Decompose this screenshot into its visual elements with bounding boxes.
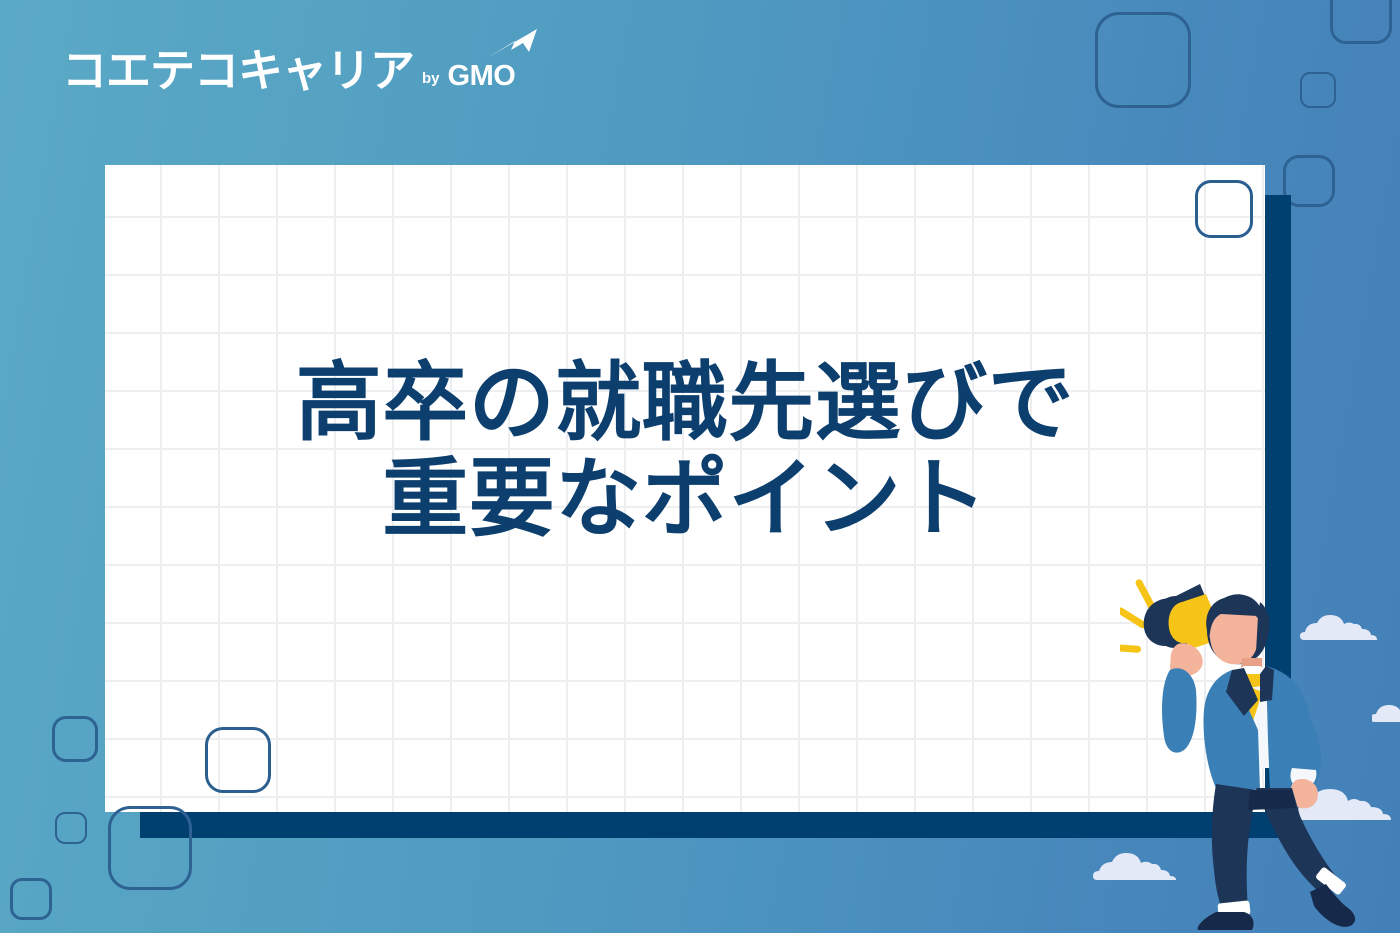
deco-square-left-lower: [10, 878, 52, 920]
deco-square-top-right-large: [1095, 12, 1191, 108]
cloud-bottom-left: [1093, 850, 1187, 884]
arrow-swoosh-icon: [485, 28, 541, 62]
brand-logo[interactable]: コエテコキャリア by GMO: [62, 48, 515, 93]
brand-by-label: by: [422, 70, 440, 93]
brand-logo-text: コエテコキャリア: [62, 48, 414, 93]
card-shadow-bottom: [140, 812, 1291, 838]
deco-square-bottom-center: [108, 806, 192, 890]
deco-square-left-upper: [52, 716, 98, 762]
brand-parent-company: GMO: [448, 62, 516, 93]
page-title-line-1: 高卒の就職先選びで: [105, 355, 1265, 451]
deco-square-left-mid: [55, 812, 87, 844]
deco-square-top-right-corner: [1330, 0, 1392, 44]
page-title: 高卒の就職先選びで 重要なポイント: [105, 355, 1265, 548]
page-title-line-2: 重要なポイント: [105, 451, 1265, 547]
hero-banner: 高卒の就職先選びで 重要なポイント: [0, 0, 1400, 933]
deco-square-card-left: [205, 727, 271, 793]
deco-square-card-top: [1195, 180, 1253, 238]
deco-square-top-right-small: [1300, 72, 1336, 108]
